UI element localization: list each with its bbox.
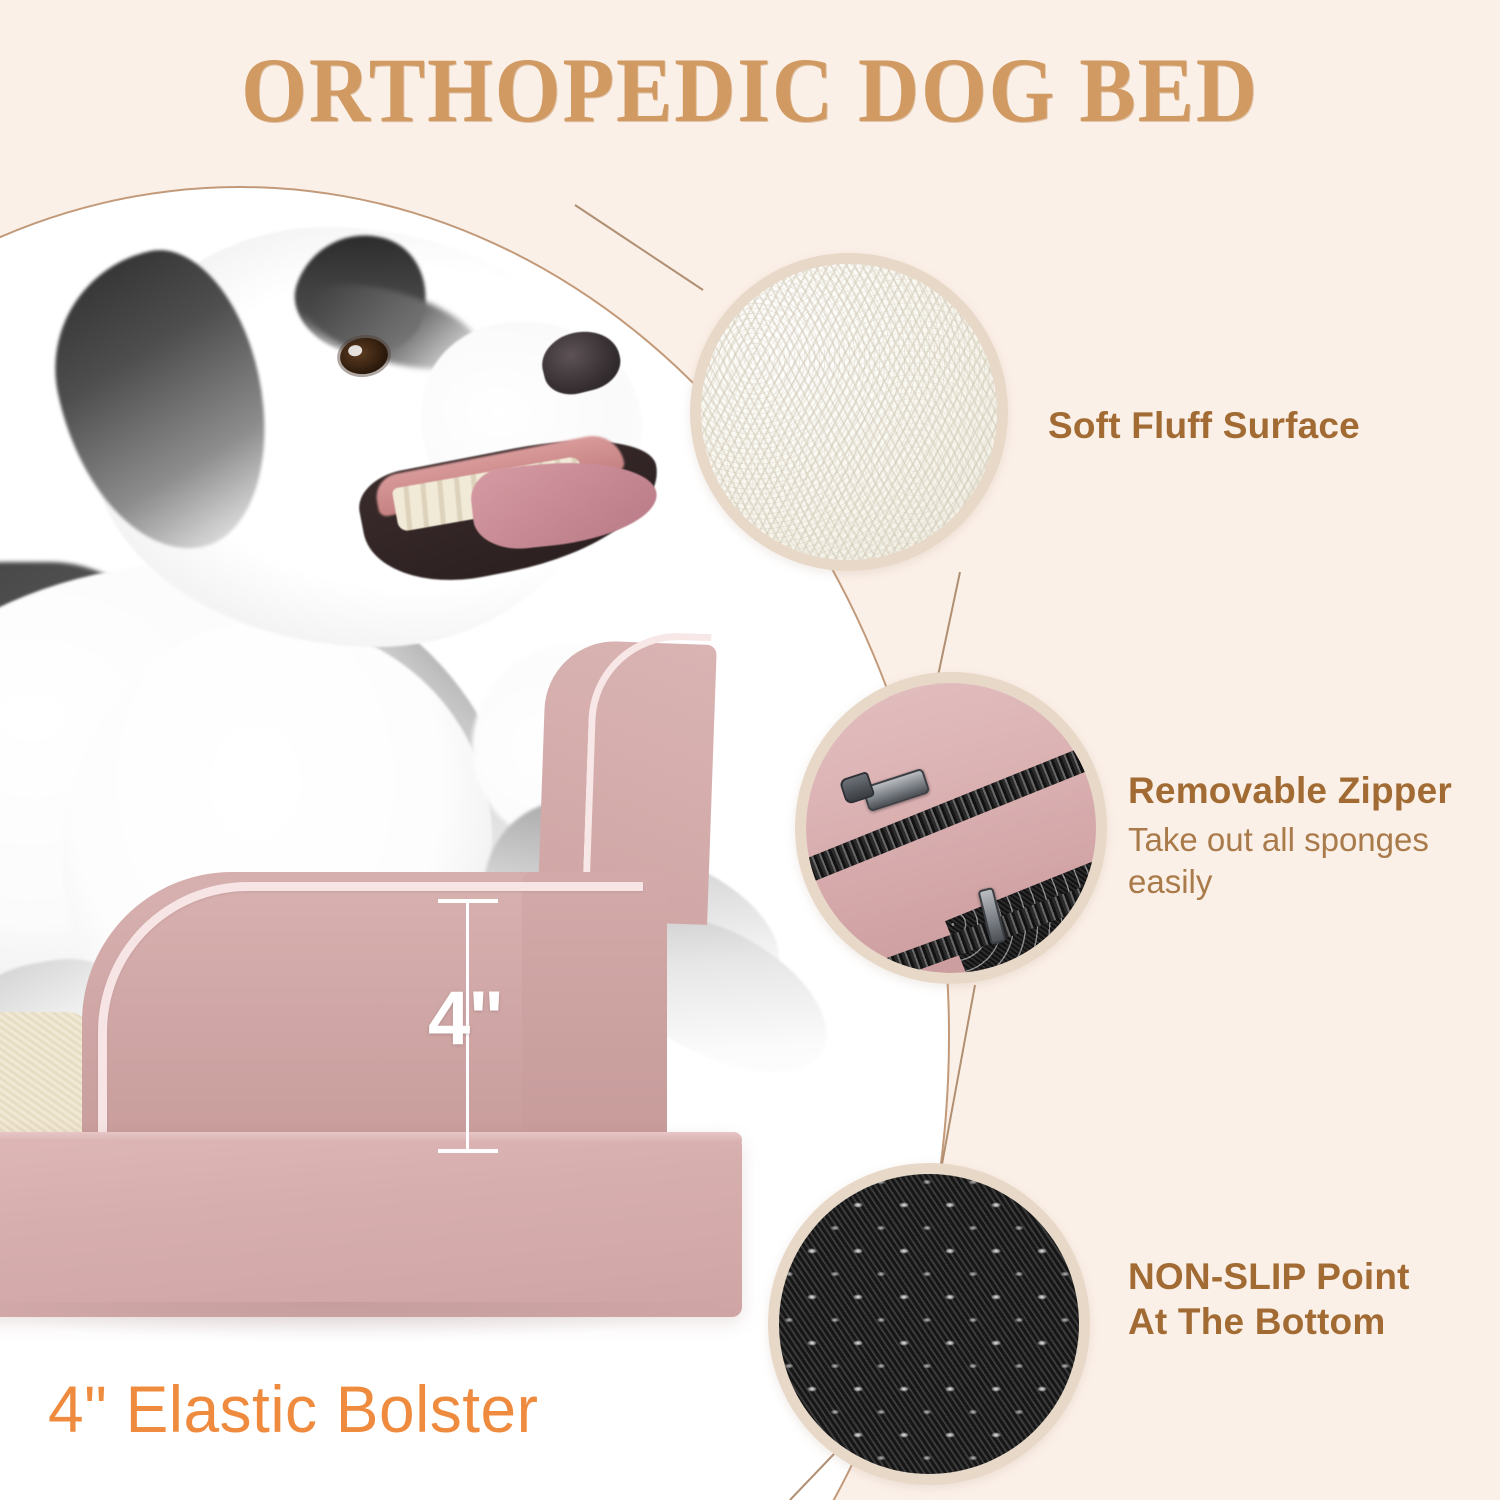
bed-sherpa-insert bbox=[0, 1012, 92, 1152]
pink-velvet-texture bbox=[806, 683, 1096, 973]
bed-base-cushion bbox=[0, 1132, 742, 1317]
detail-circle-zipper bbox=[795, 672, 1107, 984]
bed-shadow bbox=[0, 1302, 732, 1342]
nonslip-dots-row-b bbox=[779, 1174, 1079, 1474]
zipper-track-upper bbox=[795, 740, 1107, 886]
feature-title-nonslip: NON-SLIP Point At The Bottom bbox=[1128, 1254, 1410, 1344]
dimension-cap-bottom bbox=[438, 1149, 498, 1153]
bolster-caption: 4" Elastic Bolster bbox=[48, 1376, 538, 1442]
zipper-teeth-upper bbox=[795, 740, 1107, 886]
detail-circle-fluff bbox=[690, 253, 1008, 571]
page-title: ORTHOPEDIC DOG BED bbox=[60, 44, 1440, 136]
infographic-canvas: ORTHOPEDIC DOG BED bbox=[0, 0, 1500, 1500]
feature-label-fluff: Soft Fluff Surface bbox=[1048, 403, 1360, 448]
feature-title-fluff: Soft Fluff Surface bbox=[1048, 403, 1360, 448]
nonslip-fabric-texture bbox=[779, 1174, 1079, 1474]
feature-label-nonslip: NON-SLIP Point At The Bottom bbox=[1128, 1254, 1410, 1344]
feature-subtitle-zipper: Take out all sponges easily bbox=[1128, 819, 1488, 902]
sherpa-fleece-texture bbox=[701, 264, 997, 560]
dimension-callout: 4" bbox=[432, 895, 502, 1157]
bed-piping-trim bbox=[98, 882, 643, 1140]
dimension-value: 4" bbox=[428, 981, 502, 1057]
detail-circle-nonslip bbox=[768, 1163, 1090, 1485]
feature-title-zipper: Removable Zipper bbox=[1128, 768, 1488, 813]
feature-label-zipper: Removable Zipper Take out all sponges ea… bbox=[1128, 768, 1488, 902]
